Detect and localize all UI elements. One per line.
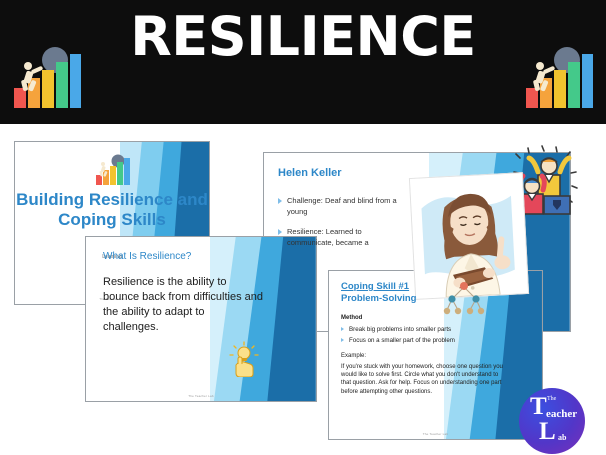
page-title: RESILIENCE — [0, 6, 606, 68]
slide-collage: Building Resilience and Coping Skills Le… — [0, 124, 606, 455]
logo-word-ab: ab — [558, 433, 566, 442]
slide-footer: The Teacher Lab — [86, 394, 316, 398]
coping-skill-title-line1: Coping Skill #1 — [341, 281, 409, 292]
slide-heading-coping-skill: Coping Skill #1 Problem-Solving — [341, 281, 416, 305]
list-item: Challenge: Deaf and blind from a young — [278, 195, 408, 217]
method-label: Method — [341, 315, 362, 321]
bar-chart-climb-icon — [520, 42, 598, 110]
coping-skill-title-line2: Problem-Solving — [341, 293, 416, 304]
decision-tree-icon — [441, 279, 487, 317]
lightbulb-idea-hand-icon — [227, 341, 261, 377]
example-label: Example: — [341, 353, 366, 359]
list-item: Focus on a smaller part of the problem — [341, 336, 521, 345]
bar-chart-climb-icon — [93, 152, 133, 186]
slide-title-heading: Building Resilience and Coping Skills — [15, 190, 209, 230]
example-text: If you're stuck with your homework, choo… — [341, 363, 508, 396]
slide-card-what-is-resilience[interactable]: What Is Resilience? Resilience is the ab… — [85, 236, 317, 402]
bar-chart-climb-icon — [8, 42, 86, 110]
slide-heading-what-is-resilience: What Is Resilience? — [103, 251, 191, 262]
slide-card-coping-skill[interactable]: Coping Skill #1 Problem-Solving — [328, 270, 543, 440]
method-bullet-list: Break big problems into smaller parts Fo… — [341, 325, 521, 347]
page-banner: RESILIENCE — [0, 0, 606, 124]
slide-footer: The Teacher Lab — [329, 432, 542, 436]
slide-heading-helen-keller: Helen Keller — [278, 167, 342, 179]
slide-body-text: Resilience is the ability to bounce back… — [103, 275, 263, 335]
logo-word-the: The — [547, 396, 556, 402]
list-item: Break big problems into smaller parts — [341, 325, 521, 334]
